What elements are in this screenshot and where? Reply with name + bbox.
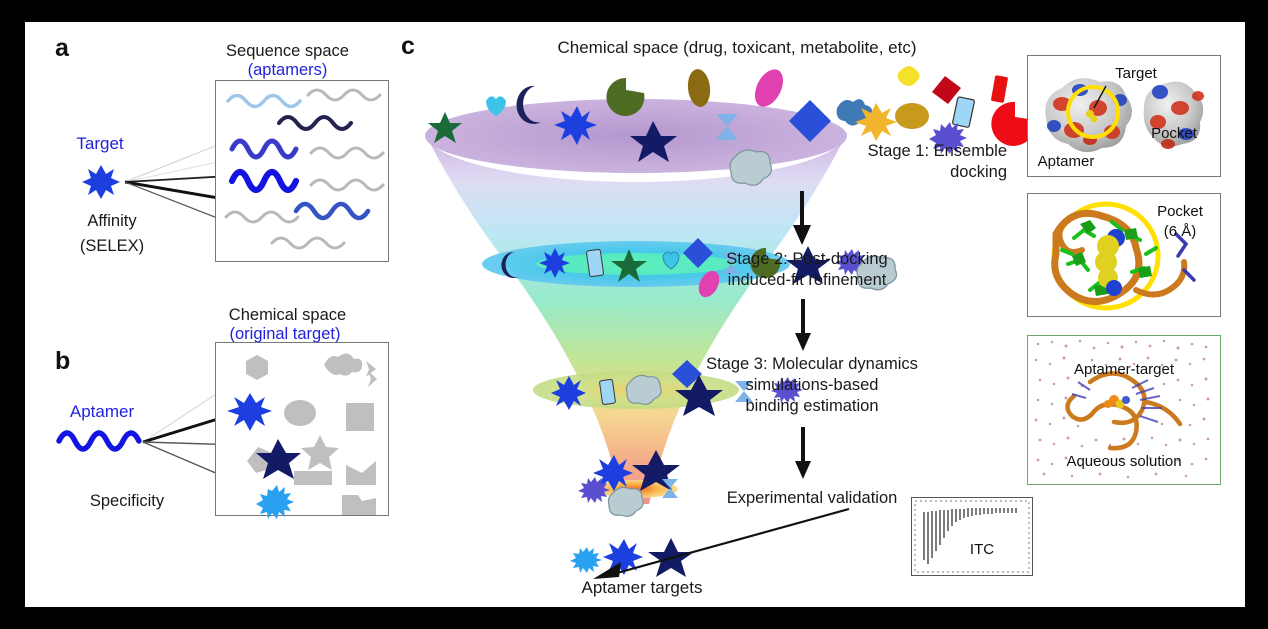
wave-pale-blue bbox=[228, 96, 300, 107]
circle-gray bbox=[284, 400, 316, 426]
wave-navy-dark bbox=[279, 117, 351, 129]
stage-3-line-1: Stage 3: Molecular dynamics bbox=[647, 355, 977, 374]
wave-gray-1 bbox=[308, 90, 380, 100]
md-solvent-box: Aptamer-target Aqueous solution bbox=[1028, 336, 1217, 481]
label-complex: Aptamer-target bbox=[1074, 361, 1175, 378]
panel-c-letter: c bbox=[401, 34, 415, 59]
panel-a: a Sequence space (aptamers) Target Affin… bbox=[25, 22, 395, 297]
aptamer-wave-set bbox=[216, 81, 388, 261]
rect-lightblue-top bbox=[952, 97, 974, 128]
chemical-space-box bbox=[215, 342, 389, 516]
label-solvent: Aqueous solution bbox=[1066, 453, 1181, 470]
chemical-space-shapes bbox=[216, 343, 388, 515]
stage-flow-column: Stage 1: Ensemble docking Stage 2: Post-… bbox=[637, 127, 1017, 557]
pocket-render: Pocket (6 Å) bbox=[1028, 194, 1220, 316]
chev-gray bbox=[346, 461, 376, 485]
rect-lightblue-2 bbox=[586, 249, 603, 277]
stage-3-line-2: simulations-based bbox=[647, 376, 977, 395]
blob-gray bbox=[324, 353, 362, 375]
inset-column: Target Pocket Aptamer bbox=[1021, 50, 1245, 550]
arrow-down-3-icon bbox=[792, 427, 814, 479]
wave-royal-blue bbox=[232, 141, 296, 157]
figure-canvas: a Sequence space (aptamers) Target Affin… bbox=[25, 22, 1245, 607]
label-distance: (6 Å) bbox=[1164, 223, 1197, 240]
ellipse-gold bbox=[895, 103, 929, 129]
stage-2-line-2: induced-fit refinement bbox=[657, 271, 957, 290]
panel-b: b Chemical space (original target) Aptam… bbox=[25, 294, 395, 574]
aptamer-surface-render: Target Pocket Aptamer bbox=[1028, 56, 1220, 176]
panel-c-title: Chemical space (drug, toxicant, metaboli… bbox=[457, 38, 1017, 58]
wave-pure-blue bbox=[232, 172, 296, 190]
arrow-down-2-icon bbox=[792, 299, 814, 351]
wave-gray-5 bbox=[272, 238, 344, 248]
wave-gray-2 bbox=[311, 148, 383, 158]
stage-2-line-1: Stage 2: Post-docking bbox=[657, 250, 957, 269]
label-pocket: Pocket bbox=[1157, 203, 1204, 220]
validation-arrow-icon bbox=[587, 505, 857, 585]
inset-docking: Target Pocket Aptamer bbox=[1027, 55, 1221, 177]
blob-yellow bbox=[898, 66, 920, 86]
wave-medium-blue bbox=[296, 204, 368, 218]
itc-inset: ITC bbox=[911, 497, 1033, 576]
notch-gray bbox=[342, 495, 376, 515]
bar-gray bbox=[294, 471, 332, 485]
label-aptamer: Aptamer bbox=[1038, 153, 1095, 170]
oval-magenta bbox=[749, 65, 789, 112]
rect-red bbox=[991, 75, 1008, 103]
hexagon-gray bbox=[246, 355, 268, 380]
itc-label: ITC bbox=[970, 541, 994, 558]
stage-3-line-3: binding estimation bbox=[647, 397, 977, 416]
label-pocket: Pocket bbox=[1151, 125, 1198, 142]
stage-1-line-2: docking bbox=[637, 163, 1007, 182]
stage-1-line-1: Stage 1: Ensemble bbox=[637, 142, 1007, 161]
wave-gray-3 bbox=[311, 180, 383, 190]
label-target: Target bbox=[1115, 65, 1158, 82]
arrow-gray bbox=[366, 361, 377, 387]
wave-gray-4 bbox=[226, 212, 298, 222]
inset-pocket: Pocket (6 Å) bbox=[1027, 193, 1221, 317]
itc-thermogram: ITC bbox=[912, 498, 1032, 575]
star5-gray bbox=[301, 435, 339, 470]
sequence-space-box bbox=[215, 80, 389, 262]
panel-c: c Chemical space (drug, toxicant, metabo… bbox=[397, 22, 1017, 607]
pac-olive bbox=[606, 78, 644, 116]
arrow-down-1-icon bbox=[789, 191, 815, 245]
diamond-red bbox=[932, 76, 961, 104]
rect-lightblue-3 bbox=[599, 379, 615, 405]
inset-md: Aptamer-target Aqueous solution bbox=[1027, 335, 1221, 485]
square-gray bbox=[346, 403, 374, 431]
burst-cyan bbox=[256, 485, 294, 519]
cross-blue bbox=[227, 393, 272, 431]
